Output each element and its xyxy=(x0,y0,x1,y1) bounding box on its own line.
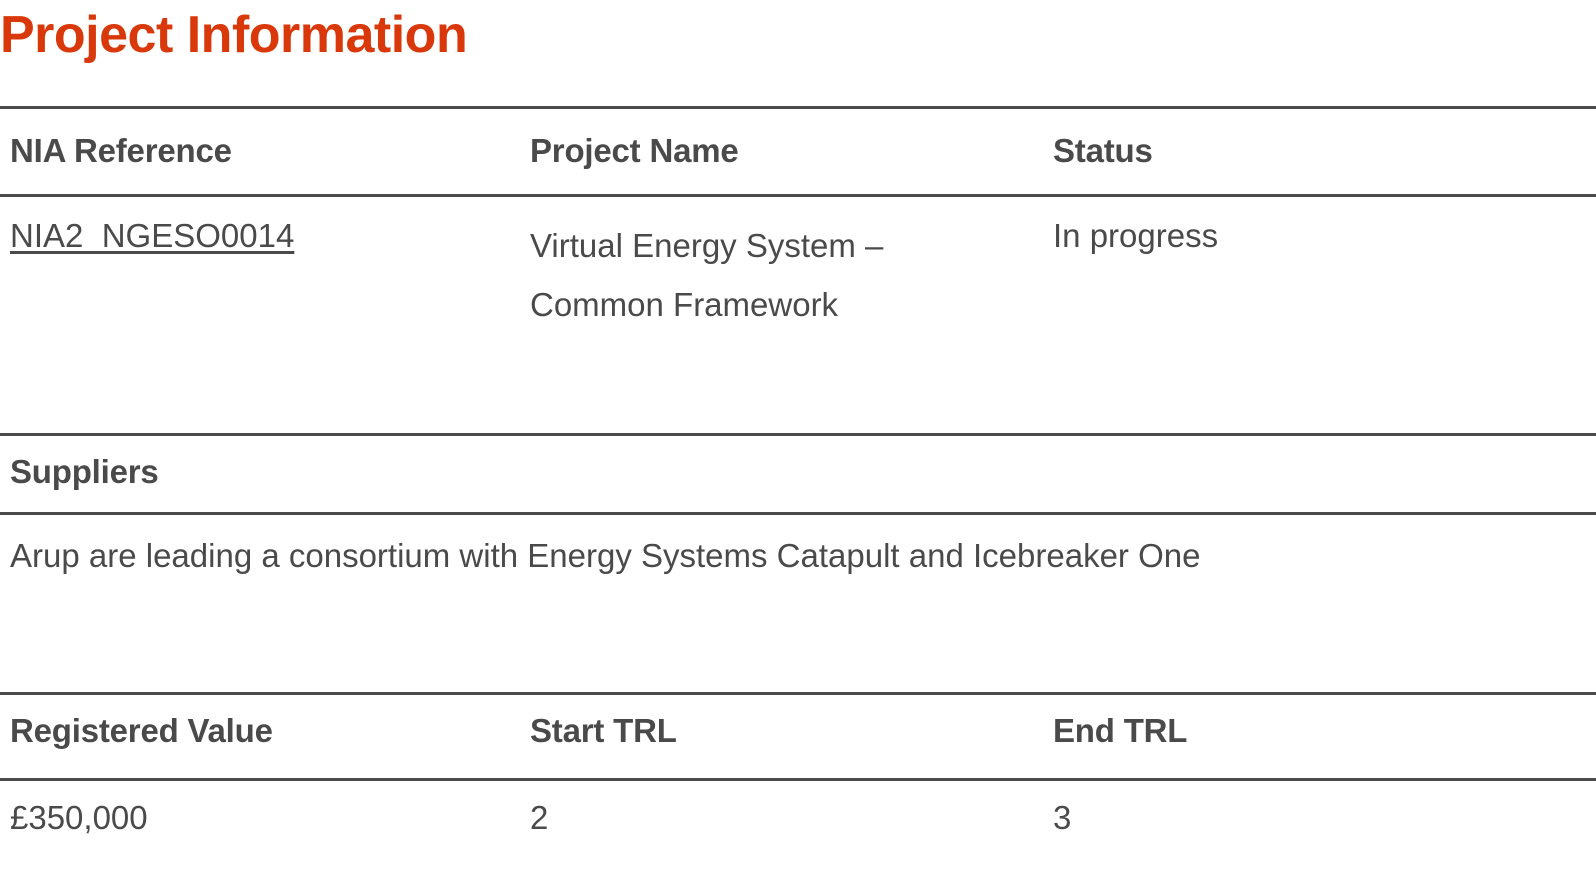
divider-below-suppliers-header xyxy=(0,512,1596,515)
divider-below-funding-header xyxy=(0,778,1596,781)
divider-above-funding-header xyxy=(0,692,1596,695)
column-header-end-trl: End TRL xyxy=(1053,711,1187,751)
column-header-project-name: Project Name xyxy=(530,131,739,171)
registered-value-amount: £350,000 xyxy=(10,798,148,838)
column-header-registered-value: Registered Value xyxy=(10,711,273,751)
nia-reference-cell: NIA2_NGESO0014 xyxy=(10,216,294,256)
divider-below-identity-header xyxy=(0,194,1596,197)
nia-reference-link[interactable]: NIA2_NGESO0014 xyxy=(10,217,294,254)
end-trl-value: 3 xyxy=(1053,798,1071,838)
status-value: In progress xyxy=(1053,216,1218,256)
project-name-value: Virtual Energy System – Common Framework xyxy=(530,216,1010,334)
suppliers-value: Arup are leading a consortium with Energ… xyxy=(10,536,1570,576)
column-header-start-trl: Start TRL xyxy=(530,711,677,751)
column-header-status: Status xyxy=(1053,131,1153,171)
section-header-suppliers: Suppliers xyxy=(10,452,159,492)
start-trl-value: 2 xyxy=(530,798,548,838)
column-header-nia-reference: NIA Reference xyxy=(10,131,232,171)
project-information-document: Project Information NIA Reference Projec… xyxy=(0,0,1596,888)
page-title: Project Information xyxy=(0,4,467,66)
divider-above-suppliers-header xyxy=(0,433,1596,436)
divider-above-identity-header xyxy=(0,106,1596,109)
